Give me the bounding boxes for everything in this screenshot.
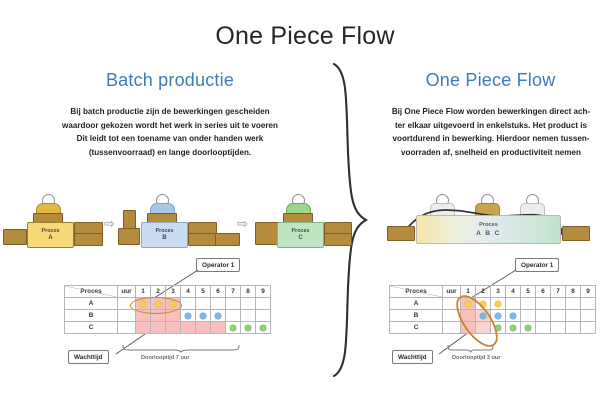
left-cell-c6	[211, 322, 226, 334]
dot-green	[510, 325, 516, 331]
right-cell-b7	[551, 310, 566, 322]
dot-green	[245, 325, 251, 331]
flow-arrow-b-to-c: ⇨	[237, 216, 248, 232]
proces-box-c: Proces C	[277, 222, 324, 248]
right-col-6: 6	[536, 286, 551, 298]
left-panel-heading: Batch productie	[20, 70, 320, 91]
right-col-8: 8	[566, 286, 581, 298]
left-col-7: 7	[226, 286, 241, 298]
left-cell-c5	[196, 322, 211, 334]
right-cell-a5	[521, 298, 536, 310]
right-cell-a6	[536, 298, 551, 310]
dot-green	[525, 325, 531, 331]
proces-label-c-line1: Proces	[292, 228, 310, 235]
proces-label-b-line1: Proces	[156, 228, 174, 235]
left-leadtime-brace	[122, 344, 240, 353]
right-cell-c6	[536, 322, 551, 334]
proces-label-a-line2: A	[48, 235, 52, 242]
right-cell-b6	[536, 310, 551, 322]
left-para-line-1: Bij batch productie zijn de bewerkingen …	[22, 105, 318, 119]
left-para-line-2: waardoor gekozen wordt het werk in serie…	[22, 119, 318, 133]
left-cell-a7	[226, 298, 241, 310]
left-cell-a5	[196, 298, 211, 310]
corner-diagonal	[65, 286, 117, 297]
slide-canvas: One Piece Flow Batch productie Bij batch…	[0, 0, 610, 420]
flow-arrow-a-to-b: ⇨	[104, 216, 115, 232]
dot-green	[230, 325, 236, 331]
left-row-label-b: B	[65, 310, 118, 322]
left-cell-c4	[181, 322, 196, 334]
left-cell-a9	[256, 298, 271, 310]
left-corner-cell: Proces	[65, 286, 118, 298]
left-col-5: 5	[196, 286, 211, 298]
right-cell-a7	[551, 298, 566, 310]
right-row-label-b: B	[390, 310, 443, 322]
right-corner-cell: Proces	[390, 286, 443, 298]
left-cell-b6	[211, 310, 226, 322]
left-cell-a6	[211, 298, 226, 310]
left-unit-cell: uur	[118, 286, 136, 298]
right-row-label-a: A	[390, 298, 443, 310]
right-col-5: 5	[521, 286, 536, 298]
cell-label-line2: A B C	[476, 230, 501, 238]
corner-diagonal	[390, 286, 442, 297]
left-operator-ellipse	[130, 297, 182, 314]
crate-cell-input	[387, 226, 415, 241]
left-para-line-3: Dit leidt tot een toename van onder hand…	[22, 132, 318, 146]
left-cell-b5	[196, 310, 211, 322]
crate-output-b3	[215, 233, 240, 246]
right-para-line-2: ter elkaar uitgevoerd in enkelstuks. Het…	[380, 119, 602, 133]
right-cell-b9	[581, 310, 596, 322]
left-leadtime-label: Doorlooptijd 7 uur	[141, 355, 189, 361]
right-panel-paragraph: Bij One Piece Flow worden bewerkingen di…	[380, 105, 602, 159]
left-cell-b8	[241, 310, 256, 322]
dot-blue	[215, 313, 221, 319]
right-operator-ellipse	[446, 292, 508, 350]
right-cell-c7	[551, 322, 566, 334]
right-para-line-4: voorraden af, snelheid en productiviteit…	[380, 146, 602, 160]
right-cell-c9	[581, 322, 596, 334]
left-row-label-c: C	[65, 322, 118, 334]
right-operator-label: Operator 1	[515, 258, 559, 272]
crate-input-b-lower	[118, 228, 140, 245]
crate-input-b-upper	[123, 210, 136, 230]
dot-blue	[185, 313, 191, 319]
right-row-label-c: C	[390, 322, 443, 334]
proces-box-b: Proces B	[141, 222, 188, 248]
left-col-6: 6	[211, 286, 226, 298]
left-col-3: 3	[166, 286, 181, 298]
right-cell-b8	[566, 310, 581, 322]
table-row: C	[65, 322, 271, 334]
right-cell-c5	[521, 322, 536, 334]
proces-label-a-line1: Proces	[42, 228, 60, 235]
left-panel-paragraph: Bij batch productie zijn de bewerkingen …	[22, 105, 318, 159]
page-title: One Piece Flow	[0, 22, 610, 51]
left-cell-b4	[181, 310, 196, 322]
left-col-1: 1	[136, 286, 151, 298]
right-para-line-3: voortdurend in bewerking. Hierdoor nemen…	[380, 132, 602, 146]
left-cell-c7	[226, 322, 241, 334]
dot-blue	[200, 313, 206, 319]
crate-output-c2	[324, 233, 352, 246]
left-operator-label: Operator 1	[196, 258, 240, 272]
right-cell-a9	[581, 298, 596, 310]
cell-label-line1: Proces	[479, 222, 498, 230]
left-row-c-unit	[118, 322, 136, 334]
right-col-9: 9	[581, 286, 596, 298]
left-para-line-4: (tussenvoorraad) en lange doorlooptijden…	[22, 146, 318, 160]
table-header-row: Proces uur 1 2 3 4 5 6 7 8 9	[65, 286, 271, 298]
left-waiting-label: Wachttijd	[68, 350, 109, 364]
left-row-b-unit	[118, 310, 136, 322]
left-col-4: 4	[181, 286, 196, 298]
left-cell-c8	[241, 322, 256, 334]
crate-output-a2	[74, 233, 103, 246]
right-para-line-1: Bij One Piece Flow worden bewerkingen di…	[380, 105, 602, 119]
crate-input-a	[3, 229, 27, 245]
proces-label-c-line2: C	[298, 235, 302, 242]
right-col-7: 7	[551, 286, 566, 298]
dot-green	[260, 325, 266, 331]
left-col-9: 9	[256, 286, 271, 298]
proces-box-a: Proces A	[27, 222, 74, 248]
left-row-label-a: A	[65, 298, 118, 310]
left-cell-c3	[166, 322, 181, 334]
left-cell-a4	[181, 298, 196, 310]
crate-cell-output	[562, 226, 590, 241]
proces-label-b-line2: B	[162, 235, 166, 242]
dot-blue	[510, 313, 516, 319]
proces-cell-abc: Proces A B C	[416, 215, 561, 244]
right-cell-b5	[521, 310, 536, 322]
right-cell-c8	[566, 322, 581, 334]
left-col-2: 2	[151, 286, 166, 298]
left-cell-a8	[241, 298, 256, 310]
divider-brace	[330, 62, 372, 378]
right-leadtime-label: Doorlooptijd 3 uur	[452, 355, 500, 361]
right-cell-a8	[566, 298, 581, 310]
left-cell-b9	[256, 310, 271, 322]
left-cell-c1	[136, 322, 151, 334]
left-col-8: 8	[241, 286, 256, 298]
left-cell-c9	[256, 322, 271, 334]
left-cell-c2	[151, 322, 166, 334]
right-waiting-label: Wachttijd	[392, 350, 433, 364]
right-panel-heading: One Piece Flow	[378, 70, 603, 91]
crate-output-b2	[188, 233, 217, 246]
left-cell-b7	[226, 310, 241, 322]
